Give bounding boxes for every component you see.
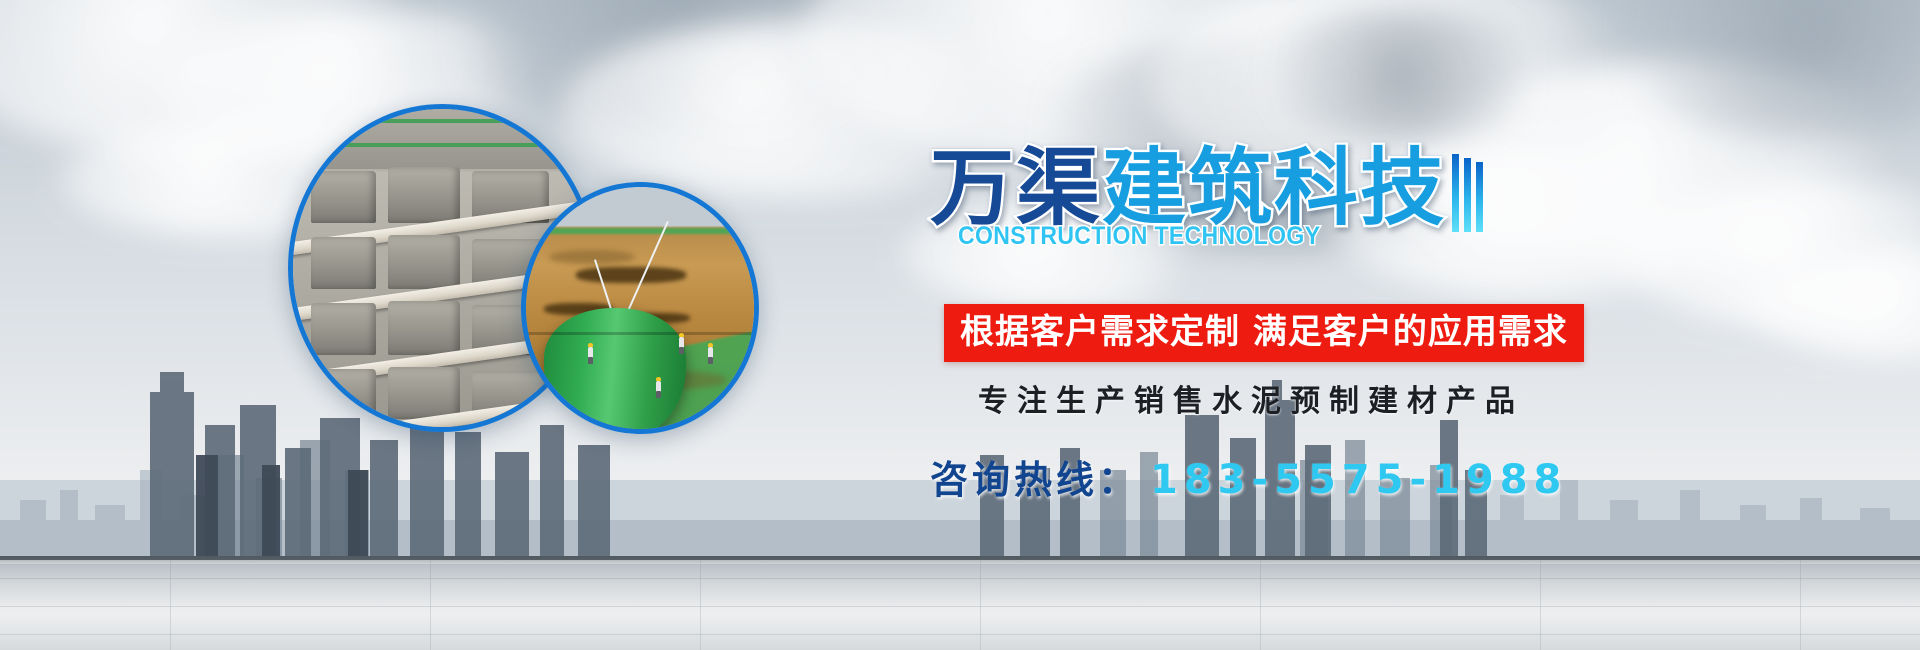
brand-english-subtitle: CONSTRUCTION TECHNOLOGY xyxy=(958,222,1320,251)
floor-reflection xyxy=(0,564,1920,624)
hotline-label: 咨询热线： xyxy=(930,458,1140,502)
promo-banner: 万渠建筑科技 CONSTRUCTION TECHNOLOGY 根据客户需求定制 … xyxy=(0,0,1920,650)
decor-bars xyxy=(1452,154,1488,237)
hotline-number[interactable]: 183-5575-1988 xyxy=(1150,457,1567,503)
brand-title-row: 万渠建筑科技 CONSTRUCTION TECHNOLOGY xyxy=(930,140,1890,252)
red-banner-text: 根据客户需求定制 满足客户的应用需求 xyxy=(960,312,1568,352)
septic-tank-installation-photo xyxy=(521,182,759,434)
hotline-row: 咨询热线：183-5575-1988 xyxy=(930,458,1567,502)
tagline-text: 专注生产销售水泥预制建材产品 xyxy=(978,385,1524,419)
promo-text-block: 万渠建筑科技 CONSTRUCTION TECHNOLOGY 根据客户需求定制 … xyxy=(930,140,1890,252)
red-highlight-banner: 根据客户需求定制 满足客户的应用需求 xyxy=(944,304,1584,362)
